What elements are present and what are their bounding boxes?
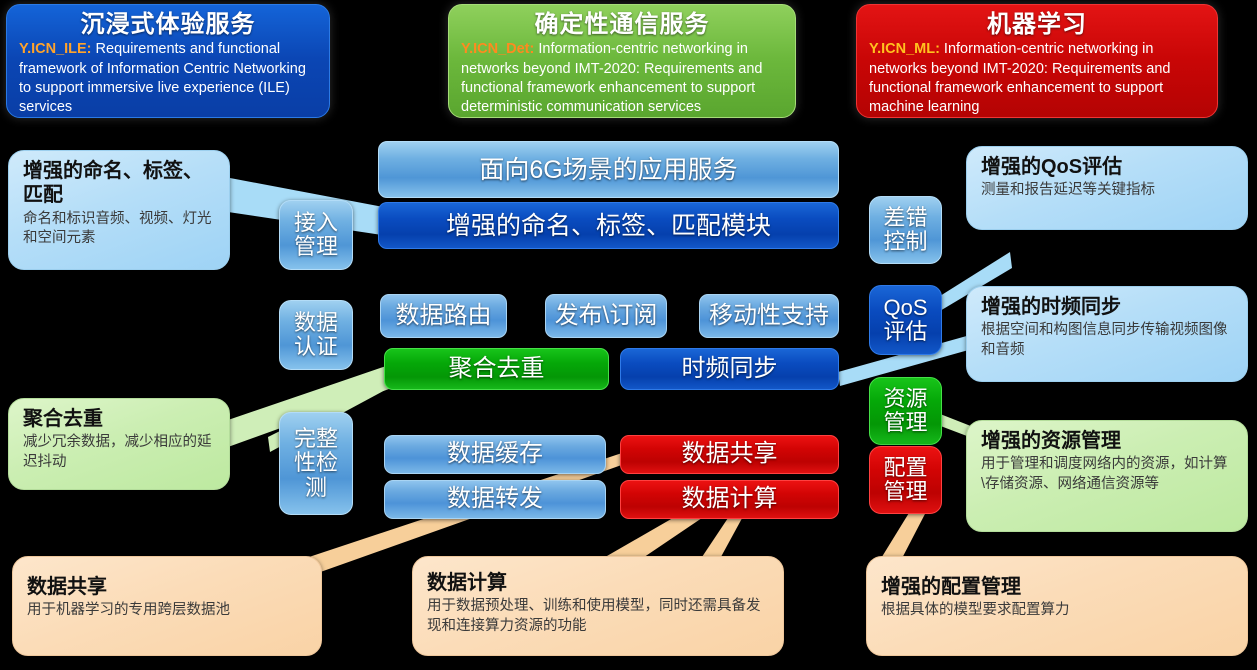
left-col-integrity-check[interactable]: 完整 性检 测 xyxy=(279,412,353,515)
center-aggregation-dedup[interactable]: 聚合去重 xyxy=(384,348,609,390)
callout-sync-desc: 根据空间和构图信息同步传输视频图像和音频 xyxy=(981,321,1235,360)
header-code-ile: Y.ICN_ILE: xyxy=(19,41,92,57)
callout-resource-title: 增强的资源管理 xyxy=(981,429,1235,453)
callout-qos-desc: 测量和报告延迟等关键指标 xyxy=(981,181,1235,200)
header-desc-det: Y.ICN_Det: Information-centric networkin… xyxy=(461,40,783,117)
right-col-qos-eval-line1: QoS xyxy=(883,296,927,320)
callout-data-sharing-title: 数据共享 xyxy=(27,575,309,599)
center-data-compute-label: 数据计算 xyxy=(682,486,778,513)
left-col-access-mgmt-line2: 管理 xyxy=(294,235,338,259)
callout-enhanced-naming-desc: 命名和标识音频、视频、灯光和空间元素 xyxy=(23,210,217,249)
left-col-integrity-check-line3: 测 xyxy=(305,476,327,500)
center-pubsub-label: 发布\订阅 xyxy=(555,303,658,330)
left-col-integrity-check-line2: 性检 xyxy=(294,451,338,475)
callout-enhanced-naming-title: 增强的命名、标签、匹配 xyxy=(23,159,217,208)
header-desc-ml: Y.ICN_ML: Information-centric networking… xyxy=(869,40,1205,117)
left-col-access-mgmt-line1: 接入 xyxy=(294,211,338,235)
center-data-sharing[interactable]: 数据共享 xyxy=(620,435,839,474)
callout-config-title: 增强的配置管理 xyxy=(881,575,1235,599)
header-code-ml: Y.ICN_ML: xyxy=(869,41,940,57)
left-col-data-auth[interactable]: 数据 认证 xyxy=(279,300,353,370)
right-col-resource-mgmt-line2: 管理 xyxy=(883,411,927,435)
callout-sync[interactable]: 增强的时频同步 根据空间和构图信息同步传输视频图像和音频 xyxy=(966,286,1248,382)
center-data-compute[interactable]: 数据计算 xyxy=(620,480,839,519)
header-card-ile[interactable]: 沉浸式体验服务 Y.ICN_ILE: Requirements and func… xyxy=(6,4,330,118)
center-naming-module[interactable]: 增强的命名、标签、匹配模块 xyxy=(378,202,839,249)
header-title-det: 确定性通信服务 xyxy=(461,11,783,39)
callout-data-sharing-desc: 用于机器学习的专用跨层数据池 xyxy=(27,601,309,620)
callout-config-desc: 根据具体的模型要求配置算力 xyxy=(881,601,1235,620)
left-col-data-auth-line1: 数据 xyxy=(294,311,338,335)
callout-qos-title: 增强的QoS评估 xyxy=(981,155,1235,179)
center-naming-module-label: 增强的命名、标签、匹配模块 xyxy=(446,212,771,240)
center-mobility-support-label: 移动性支持 xyxy=(709,303,829,330)
header-card-det[interactable]: 确定性通信服务 Y.ICN_Det: Information-centric n… xyxy=(448,4,796,118)
callout-enhanced-naming[interactable]: 增强的命名、标签、匹配 命名和标识音频、视频、灯光和空间元素 xyxy=(8,150,230,270)
center-data-routing-label: 数据路由 xyxy=(396,303,492,330)
right-col-config-mgmt-line2: 管理 xyxy=(883,480,927,504)
center-time-freq-sync[interactable]: 时频同步 xyxy=(620,348,839,390)
center-data-cache[interactable]: 数据缓存 xyxy=(384,435,606,474)
callout-sync-title: 增强的时频同步 xyxy=(981,295,1235,319)
center-data-cache-label: 数据缓存 xyxy=(447,441,543,468)
callout-aggregation[interactable]: 聚合去重 减少冗余数据，减少相应的延迟抖动 xyxy=(8,398,230,490)
right-col-error-control-line2: 控制 xyxy=(883,230,927,254)
callout-resource-desc: 用于管理和调度网络内的资源，如计算\存储资源、网络通信资源等 xyxy=(981,455,1235,494)
header-card-ml[interactable]: 机器学习 Y.ICN_ML: Information-centric netwo… xyxy=(856,4,1218,118)
center-mobility-support[interactable]: 移动性支持 xyxy=(699,294,839,338)
callout-config[interactable]: 增强的配置管理 根据具体的模型要求配置算力 xyxy=(866,556,1248,656)
center-data-forwarding[interactable]: 数据转发 xyxy=(384,480,606,519)
callout-data-compute-desc: 用于数据预处理、训练和使用模型，同时还需具备发现和连接算力资源的功能 xyxy=(427,597,771,636)
center-time-freq-sync-label: 时频同步 xyxy=(682,356,778,383)
header-desc-ile: Y.ICN_ILE: Requirements and functional f… xyxy=(19,40,317,117)
callout-resource[interactable]: 增强的资源管理 用于管理和调度网络内的资源，如计算\存储资源、网络通信资源等 xyxy=(966,420,1248,532)
header-code-det: Y.ICN_Det: xyxy=(461,41,534,57)
diagram-canvas: 沉浸式体验服务 Y.ICN_ILE: Requirements and func… xyxy=(0,0,1257,670)
callout-aggregation-desc: 减少冗余数据，减少相应的延迟抖动 xyxy=(23,433,217,472)
right-col-resource-mgmt[interactable]: 资源 管理 xyxy=(869,377,942,445)
right-col-error-control[interactable]: 差错 控制 xyxy=(869,196,942,264)
center-data-sharing-label: 数据共享 xyxy=(682,441,778,468)
center-app-service[interactable]: 面向6G场景的应用服务 xyxy=(378,141,839,198)
right-col-config-mgmt-line1: 配置 xyxy=(883,456,927,480)
right-col-qos-eval[interactable]: QoS 评估 xyxy=(869,285,942,355)
header-title-ml: 机器学习 xyxy=(869,11,1205,39)
callout-data-compute-title: 数据计算 xyxy=(427,571,771,595)
center-data-routing[interactable]: 数据路由 xyxy=(380,294,507,338)
callout-data-sharing[interactable]: 数据共享 用于机器学习的专用跨层数据池 xyxy=(12,556,322,656)
callout-data-compute[interactable]: 数据计算 用于数据预处理、训练和使用模型，同时还需具备发现和连接算力资源的功能 xyxy=(412,556,784,656)
right-col-resource-mgmt-line1: 资源 xyxy=(883,387,927,411)
left-col-access-mgmt[interactable]: 接入 管理 xyxy=(279,200,353,270)
left-col-integrity-check-line1: 完整 xyxy=(294,427,338,451)
center-data-forwarding-label: 数据转发 xyxy=(447,486,543,513)
callout-aggregation-title: 聚合去重 xyxy=(23,407,217,431)
left-col-data-auth-line2: 认证 xyxy=(294,335,338,359)
center-pubsub[interactable]: 发布\订阅 xyxy=(545,294,667,338)
header-title-ile: 沉浸式体验服务 xyxy=(19,11,317,39)
right-col-qos-eval-line2: 评估 xyxy=(883,320,927,344)
right-col-error-control-line1: 差错 xyxy=(883,206,927,230)
center-app-service-label: 面向6G场景的应用服务 xyxy=(479,156,737,184)
right-col-config-mgmt[interactable]: 配置 管理 xyxy=(869,446,942,514)
center-aggregation-dedup-label: 聚合去重 xyxy=(449,356,545,383)
callout-qos[interactable]: 增强的QoS评估 测量和报告延迟等关键指标 xyxy=(966,146,1248,230)
